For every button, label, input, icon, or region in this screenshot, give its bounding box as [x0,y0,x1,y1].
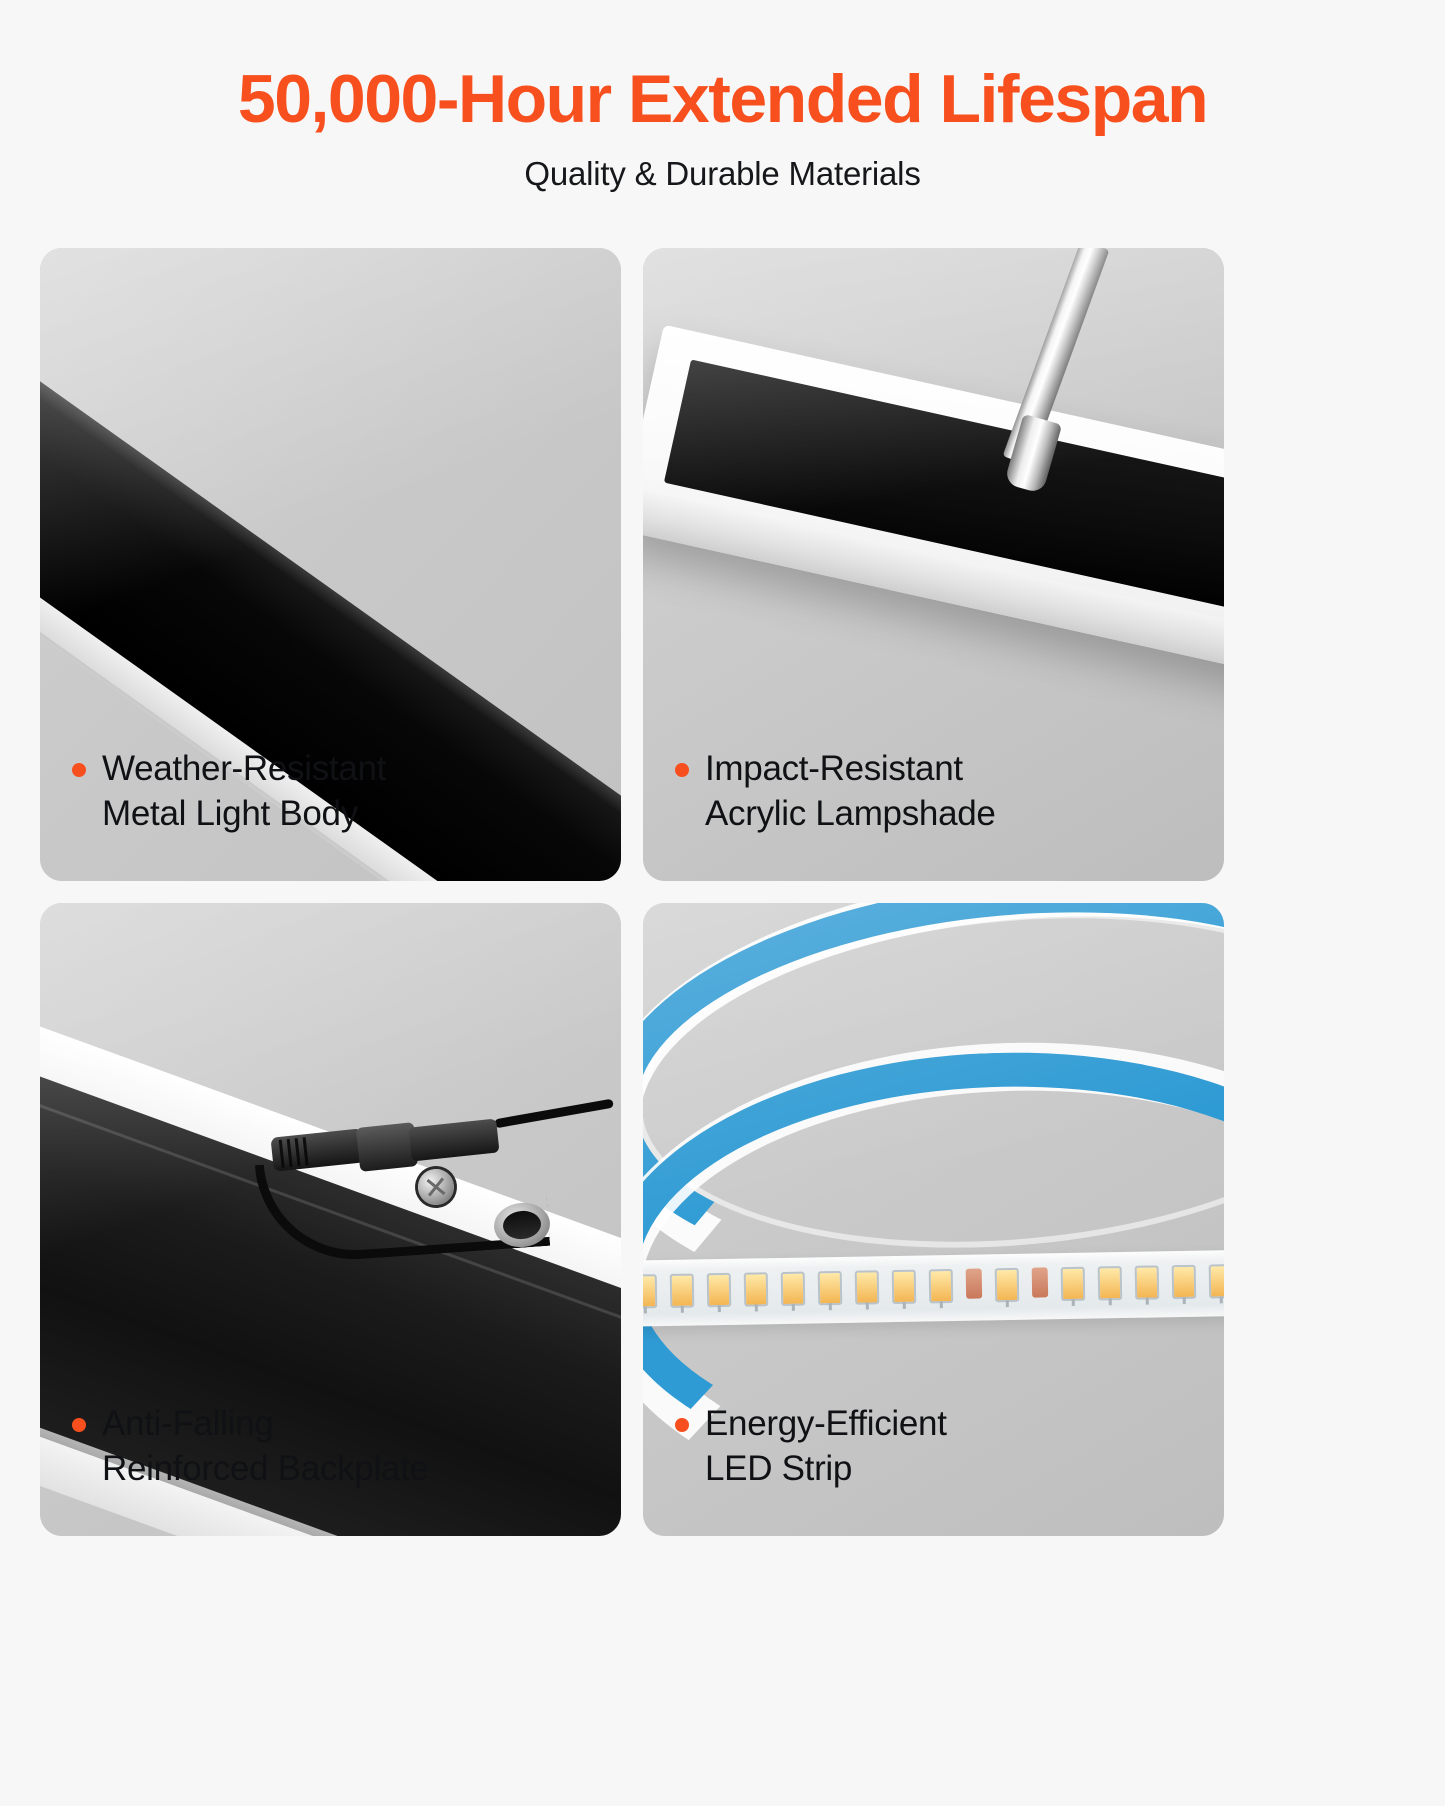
infographic-page: 50,000-Hour Extended Lifespan Quality & … [0,0,1445,1806]
card-caption-text: Energy-Efficient LED Strip [705,1402,947,1492]
feature-card-grid: Weather-Resistant Metal Light Body Impac… [40,248,1405,1536]
feature-card-energy-efficient-led-strip: Energy-Efficient LED Strip [643,903,1224,1536]
bullet-dot-icon [675,1418,689,1432]
page-subtitle: Quality & Durable Materials [0,155,1445,193]
card-caption: Energy-Efficient LED Strip [675,1402,947,1492]
feature-card-weather-resistant-metal-light-body: Weather-Resistant Metal Light Body [40,248,621,881]
header: 50,000-Hour Extended Lifespan Quality & … [0,0,1445,193]
bullet-dot-icon [675,763,689,777]
card-caption-text: Weather-Resistant Metal Light Body [102,747,386,837]
feature-card-impact-resistant-acrylic-lampshade: Impact-Resistant Acrylic Lampshade [643,248,1224,881]
feature-card-anti-falling-reinforced-backplate: Anti-Falling Reinforced Backplate [40,903,621,1536]
card-caption: Impact-Resistant Acrylic Lampshade [675,747,996,837]
card-caption: Weather-Resistant Metal Light Body [72,747,386,837]
bullet-dot-icon [72,1418,86,1432]
card-caption-text: Impact-Resistant Acrylic Lampshade [705,747,996,837]
card-caption: Anti-Falling Reinforced Backplate [72,1402,429,1492]
bullet-dot-icon [72,763,86,777]
page-title: 50,000-Hour Extended Lifespan [0,64,1445,135]
card-caption-text: Anti-Falling Reinforced Backplate [102,1402,429,1492]
